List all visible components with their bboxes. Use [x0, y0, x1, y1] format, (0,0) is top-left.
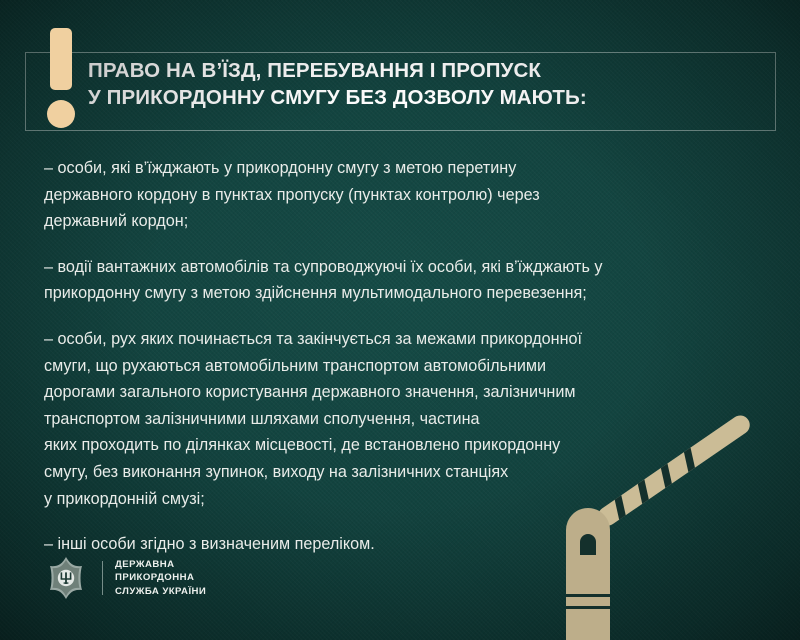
border-guard-emblem-icon — [44, 556, 88, 600]
page-title-line-2: У ПРИКОРДОННУ СМУГУ БЕЗ ДОЗВОЛУ МАЮТЬ: — [88, 84, 758, 111]
organization-name-line-2: ПРИКОРДОННА — [115, 571, 206, 584]
exclamation-mark-icon — [47, 28, 75, 133]
list-item: – інші особи згідно з визначеним перелік… — [44, 531, 724, 558]
organization-name-line-3: СЛУЖБА УКРАЇНИ — [115, 585, 206, 598]
list-item: – особи, рух яких починається та закінчу… — [44, 326, 724, 512]
exclamation-bar — [50, 28, 72, 90]
organization-name: ДЕРЖАВНА ПРИКОРДОННА СЛУЖБА УКРАЇНИ — [115, 558, 206, 598]
logo-divider — [102, 561, 103, 595]
list-item: – особи, які в’їжджають у прикордонну см… — [44, 155, 724, 235]
exclamation-dot — [47, 100, 75, 128]
organization-name-line-1: ДЕРЖАВНА — [115, 558, 206, 571]
organization-logo: ДЕРЖАВНА ПРИКОРДОННА СЛУЖБА УКРАЇНИ — [44, 556, 206, 600]
infographic-slide: ПРАВО НА В’ЇЗД, ПЕРЕБУВАННЯ І ПРОПУСК У … — [0, 0, 800, 640]
body-text: – особи, які в’їжджають у прикордонну см… — [44, 155, 724, 558]
page-title: ПРАВО НА В’ЇЗД, ПЕРЕБУВАННЯ І ПРОПУСК У … — [88, 57, 758, 111]
list-item: – водії вантажних автомобілів та супрово… — [44, 254, 724, 307]
page-title-line-1: ПРАВО НА В’ЇЗД, ПЕРЕБУВАННЯ І ПРОПУСК — [88, 57, 758, 84]
